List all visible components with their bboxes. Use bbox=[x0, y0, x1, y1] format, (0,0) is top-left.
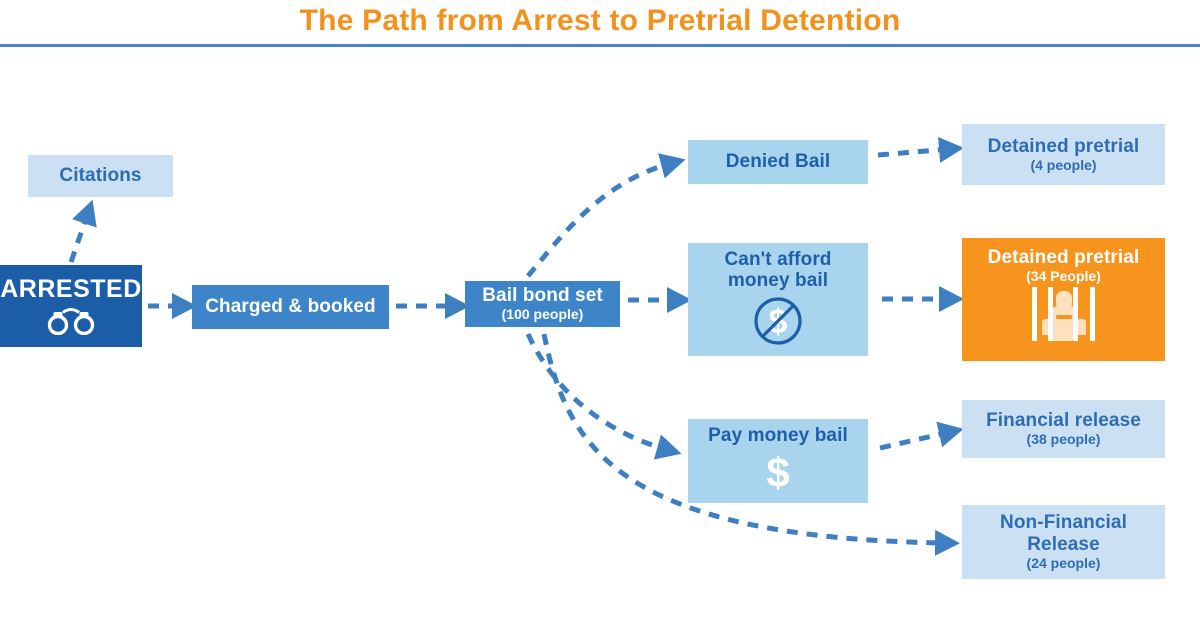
node-denied-bail-label: Denied Bail bbox=[726, 151, 831, 172]
node-bail-bond-set[interactable]: Bail bond set (100 people) bbox=[465, 281, 620, 327]
node-denied-bail[interactable]: Denied Bail bbox=[688, 140, 868, 184]
node-financial-release-label: Financial release bbox=[986, 410, 1141, 431]
node-cant-afford-line2: money bail bbox=[728, 270, 828, 291]
page-title: The Path from Arrest to Pretrial Detenti… bbox=[0, 4, 1200, 38]
node-cant-afford-money-bail[interactable]: Can't afford money bail $ bbox=[688, 243, 868, 356]
title-divider bbox=[0, 44, 1200, 47]
node-arrested-label: ARRESTED bbox=[0, 275, 142, 303]
node-detained-pretrial-4-label: Detained pretrial bbox=[988, 136, 1140, 157]
node-financial-release[interactable]: Financial release (38 people) bbox=[962, 400, 1165, 458]
no-money-icon: $ bbox=[751, 294, 805, 353]
node-detained-pretrial-34-label: Detained pretrial bbox=[988, 247, 1140, 268]
node-non-financial-release[interactable]: Non-Financial Release (24 people) bbox=[962, 505, 1165, 579]
arrow-denied-bail-to-detained-pretrial-4 bbox=[878, 149, 950, 155]
node-citations[interactable]: Citations bbox=[28, 155, 173, 197]
node-detained-pretrial-34-count: (34 People) bbox=[1026, 269, 1101, 285]
node-citations-label: Citations bbox=[59, 165, 141, 186]
node-pay-money-bail[interactable]: Pay money bail $ bbox=[688, 419, 868, 503]
node-charged-and-booked[interactable]: Charged & booked bbox=[192, 285, 389, 329]
arrow-pay-money-bail-to-financial-release bbox=[880, 432, 950, 448]
node-financial-release-count: (38 people) bbox=[1027, 432, 1101, 448]
node-cant-afford-line1: Can't afford bbox=[724, 249, 831, 270]
node-bail-bond-count: (100 people) bbox=[502, 307, 584, 323]
node-detained-pretrial-34[interactable]: Detained pretrial (34 People) bbox=[962, 238, 1165, 361]
arrow-bail-bond-to-pay-money-bail bbox=[528, 334, 668, 450]
arrow-bail-bond-to-denied-bail bbox=[528, 163, 672, 276]
infographic-canvas: The Path from Arrest to Pretrial Detenti… bbox=[0, 0, 1200, 630]
node-detained-pretrial-4[interactable]: Detained pretrial (4 people) bbox=[962, 124, 1165, 185]
dollar-sign-icon: $ bbox=[758, 448, 798, 499]
person-behind-bars-icon bbox=[1018, 287, 1110, 346]
title-bar: The Path from Arrest to Pretrial Detenti… bbox=[0, 0, 1200, 48]
node-non-financial-release-line1: Non-Financial bbox=[1000, 512, 1127, 533]
node-bail-bond-label: Bail bond set bbox=[482, 285, 603, 306]
node-non-financial-release-count: (24 people) bbox=[1027, 556, 1101, 572]
node-pay-money-bail-label: Pay money bail bbox=[708, 425, 848, 446]
node-non-financial-release-line2: Release bbox=[1027, 534, 1100, 555]
arrow-arrested-to-citations bbox=[71, 213, 88, 262]
handcuffs-icon bbox=[44, 305, 98, 340]
node-charged-label: Charged & booked bbox=[205, 296, 376, 317]
svg-text:$: $ bbox=[766, 449, 789, 494]
node-detained-pretrial-4-count: (4 people) bbox=[1030, 158, 1096, 174]
node-arrested[interactable]: ARRESTED bbox=[0, 265, 142, 347]
